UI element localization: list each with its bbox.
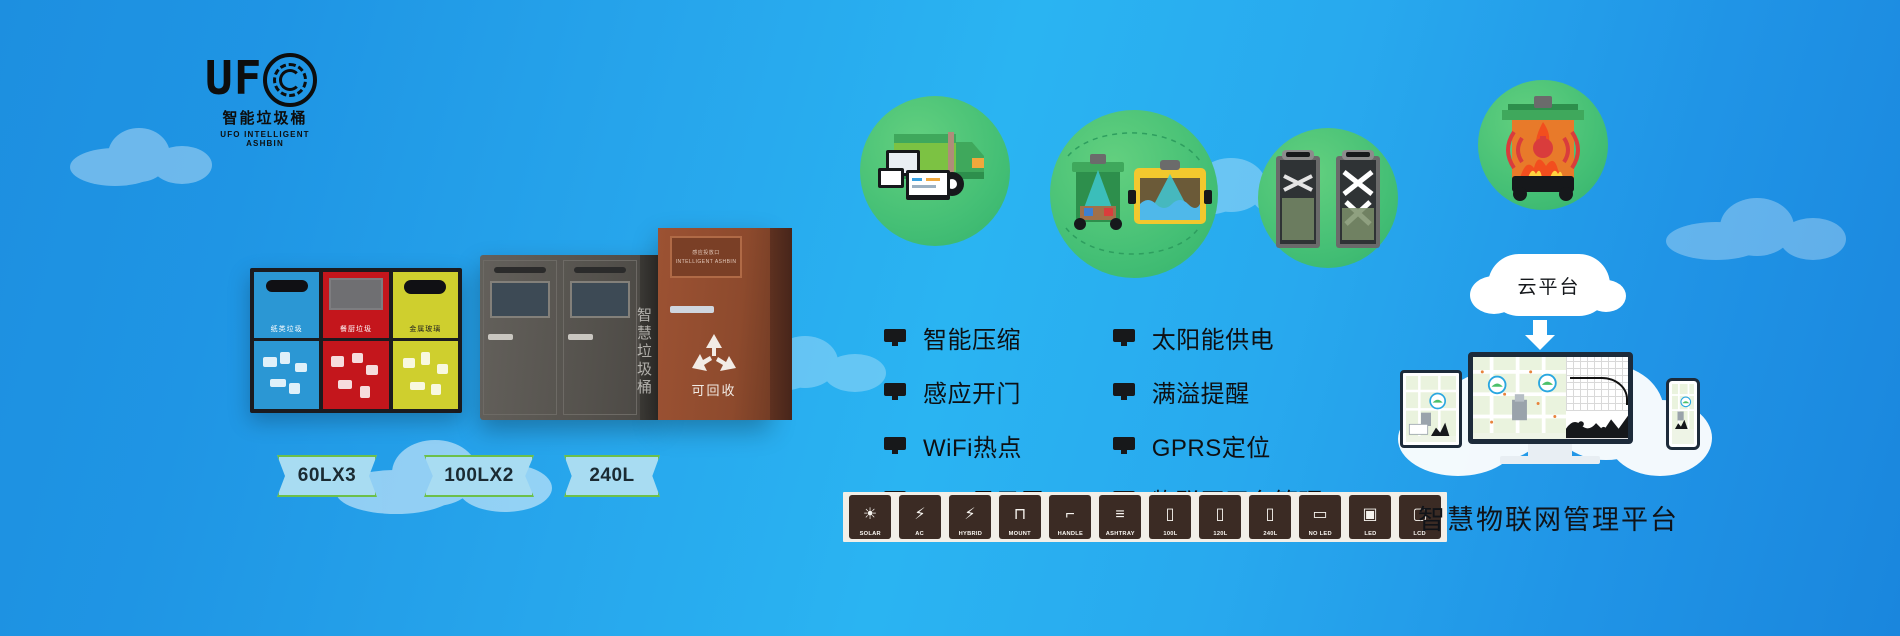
feature-item: WiFi热点 xyxy=(884,428,1045,463)
capacity-tag-100lx2: 100LX2 xyxy=(424,455,534,497)
feature-label: WiFi热点 xyxy=(923,428,1022,463)
bin-panel-kitchen: 餐厨垃圾 xyxy=(323,272,388,409)
tablet-screen xyxy=(1406,376,1456,442)
capacity-tag-label: 100LX2 xyxy=(444,465,514,487)
recycle-symbol-icon xyxy=(689,332,739,378)
trend-line-chart xyxy=(1566,357,1628,411)
feature-circle-waste-compaction xyxy=(1258,128,1398,268)
option-icon-caption: 120L xyxy=(1213,531,1227,537)
compaction-mechanism-icon xyxy=(1258,128,1398,268)
monitor-chart-panel xyxy=(1566,357,1628,439)
bin-slot-icon xyxy=(266,280,308,292)
capacity-tag-240l: 240L xyxy=(564,455,660,497)
bin-card-reader-icon xyxy=(670,306,714,313)
bin-240l-icon: ▯ xyxy=(1266,499,1275,531)
bin-100l-icon: ▯ xyxy=(1166,499,1175,531)
option-icon-led: ▣ LED xyxy=(1349,495,1391,539)
fire-alarm-icon xyxy=(1478,80,1608,210)
option-icon-caption: NO LED xyxy=(1308,531,1331,537)
area-chart xyxy=(1566,411,1628,439)
bin-display-screen: 感应投放口 INTELLIGENT ASHBIN xyxy=(670,236,742,278)
option-icon-hybrid: ⚡ HYBRID xyxy=(949,495,991,539)
mobile-phone-device xyxy=(1666,378,1700,450)
marketing-banner: UF 智能垃圾桶 UFO INTELLIGENT ASHBIN 纸类垃圾 xyxy=(0,0,1900,636)
feature-column-right: 太阳能供电 满溢提醒 GPRS定位 物联网平台管理 xyxy=(1113,320,1324,517)
cloud-platform-label-text: 云平台 xyxy=(1517,272,1580,299)
map-thumbnail-icon xyxy=(1672,384,1694,429)
option-icon-caption: SOLAR xyxy=(859,531,880,537)
option-icon-caption: HANDLE xyxy=(1057,531,1082,537)
map-thumbnail-icon xyxy=(1406,376,1456,436)
monitor-base xyxy=(1500,456,1600,464)
feature-item: 太阳能供电 xyxy=(1113,320,1324,355)
phone-screen xyxy=(1672,384,1694,444)
led-panel-icon: ▣ xyxy=(1362,499,1377,531)
capacity-tag-60lx3: 60LX3 xyxy=(277,455,377,497)
product-triple-sorting-bin: 纸类垃圾 餐厨垃圾 xyxy=(250,268,462,413)
feature-item: GPRS定位 xyxy=(1113,428,1324,463)
bin-panel-label: 金属玻璃 xyxy=(409,324,441,334)
product-recycling-bin-240l: 感应投放口 INTELLIGENT ASHBIN 可回收 xyxy=(658,228,770,420)
feature-circle-fire-alarm-detection xyxy=(1478,80,1608,210)
monitor-bullet-icon xyxy=(1113,383,1135,400)
brand-logo: UF 智能垃圾桶 UFO INTELLIGENT ASHBIN xyxy=(205,55,325,150)
monitor-bullet-icon xyxy=(884,437,906,454)
bin-window-icon xyxy=(329,278,383,310)
option-icon-100l: ▯ 100L xyxy=(1149,495,1191,539)
garbage-truck-icon xyxy=(860,96,1010,246)
feature-label: GPRS定位 xyxy=(1152,428,1271,463)
option-icon-caption: HYBRID xyxy=(958,531,982,537)
bin-slot-icon xyxy=(404,280,446,294)
feature-item: 智能压缩 xyxy=(884,320,1045,355)
monitor-stand xyxy=(1528,444,1572,456)
area-chart-icon xyxy=(1566,411,1628,439)
option-icon-caption: AC xyxy=(916,531,925,537)
product-smart-double-bin: 智慧垃圾桶 xyxy=(480,255,660,420)
feature-label: 太阳能供电 xyxy=(1152,320,1275,355)
feature-column-left: 智能压缩 感应开门 WiFi热点 LED显示屏 xyxy=(884,320,1045,517)
sun-icon: ☀ xyxy=(863,499,877,531)
cloud-platform-illustration: 云平台 xyxy=(1400,298,1700,483)
feature-list: 智能压缩 感应开门 WiFi热点 LED显示屏 太阳能供电 满溢提醒 xyxy=(884,320,1323,517)
no-led-icon: ▭ xyxy=(1312,499,1327,531)
capacity-tag-label: 240L xyxy=(589,465,634,487)
feature-circle-fill-level-sensor xyxy=(1050,110,1218,278)
option-icon-mount: ⊓ MOUNT xyxy=(999,495,1041,539)
ashtray-icon: ≡ xyxy=(1115,499,1124,531)
bin-screen-line1: 感应投放口 xyxy=(692,249,720,256)
option-icon-strip: ☀ SOLAR ⚡ AC ⚡ HYBRID ⊓ MOUNT ⌐ HANDLE ≡… xyxy=(843,492,1447,542)
logo-ring-o-icon xyxy=(263,53,317,107)
option-icon-240l: ▯ 240L xyxy=(1249,495,1291,539)
monitor-bullet-icon xyxy=(1113,437,1135,454)
option-icon-caption: 240L xyxy=(1263,531,1277,537)
feature-item: 感应开门 xyxy=(884,374,1045,409)
option-icon-caption: MOUNT xyxy=(1009,531,1031,537)
bin-recycle-label: 可回收 xyxy=(658,380,770,399)
monitor-bullet-icon xyxy=(884,329,906,346)
handle-icon: ⌐ xyxy=(1065,499,1074,531)
feature-circle-collection-truck-dispatch xyxy=(860,96,1010,246)
feature-item: 满溢提醒 xyxy=(1113,374,1324,409)
desktop-monitor xyxy=(1468,352,1633,444)
wall-mount-icon: ⊓ xyxy=(1014,499,1026,531)
option-icon-solar: ☀ SOLAR xyxy=(849,495,891,539)
bin-door-right xyxy=(563,260,637,415)
option-icon-handle: ⌐ HANDLE xyxy=(1049,495,1091,539)
cloud-decoration xyxy=(1660,190,1850,264)
capacity-tag-label: 60LX3 xyxy=(298,465,356,487)
monitor-map-panel xyxy=(1473,357,1566,439)
fill-level-sensor-icon xyxy=(1050,110,1218,278)
tablet-device xyxy=(1400,370,1462,448)
bin-panel-label: 纸类垃圾 xyxy=(271,324,303,334)
option-icon-caption: 100L xyxy=(1163,531,1177,537)
city-map-icon xyxy=(1473,357,1566,433)
option-icon-ashtray: ≡ ASHTRAY xyxy=(1099,495,1141,539)
feature-label: 智能压缩 xyxy=(923,320,1021,355)
feature-label: 满溢提醒 xyxy=(1152,374,1250,409)
bin-screen-line2: INTELLIGENT ASHBIN xyxy=(676,259,737,265)
bin-panel-metal-glass: 金属玻璃 xyxy=(393,272,458,409)
logo-chinese-name: 智能垃圾桶 xyxy=(205,107,325,128)
option-icon-no-led: ▭ NO LED xyxy=(1299,495,1341,539)
hybrid-power-icon: ⚡ xyxy=(964,499,975,531)
option-icon-ac: ⚡ AC xyxy=(899,495,941,539)
monitor-bullet-icon xyxy=(884,383,906,400)
bin-120l-icon: ▯ xyxy=(1216,499,1225,531)
power-plug-icon: ⚡ xyxy=(914,499,925,531)
bin-vertical-label: 智慧垃圾桶 xyxy=(638,307,654,397)
option-icon-caption: LED xyxy=(1364,531,1376,537)
bin-panel-label: 餐厨垃圾 xyxy=(340,324,372,334)
monitor-bullet-icon xyxy=(1113,329,1135,346)
bin-door-left xyxy=(483,260,557,415)
feature-label: 感应开门 xyxy=(923,374,1021,409)
option-icon-caption: ASHTRAY xyxy=(1105,531,1134,537)
platform-caption: 智慧物联网管理平台 xyxy=(1418,498,1679,537)
logo-english-name: UFO INTELLIGENT ASHBIN xyxy=(205,130,325,148)
option-icon-120l: ▯ 120L xyxy=(1199,495,1241,539)
bin-panel-paper: 纸类垃圾 xyxy=(254,272,319,409)
cloud-platform-label: 云平台 xyxy=(1488,254,1610,316)
cloud-decoration xyxy=(60,120,220,190)
